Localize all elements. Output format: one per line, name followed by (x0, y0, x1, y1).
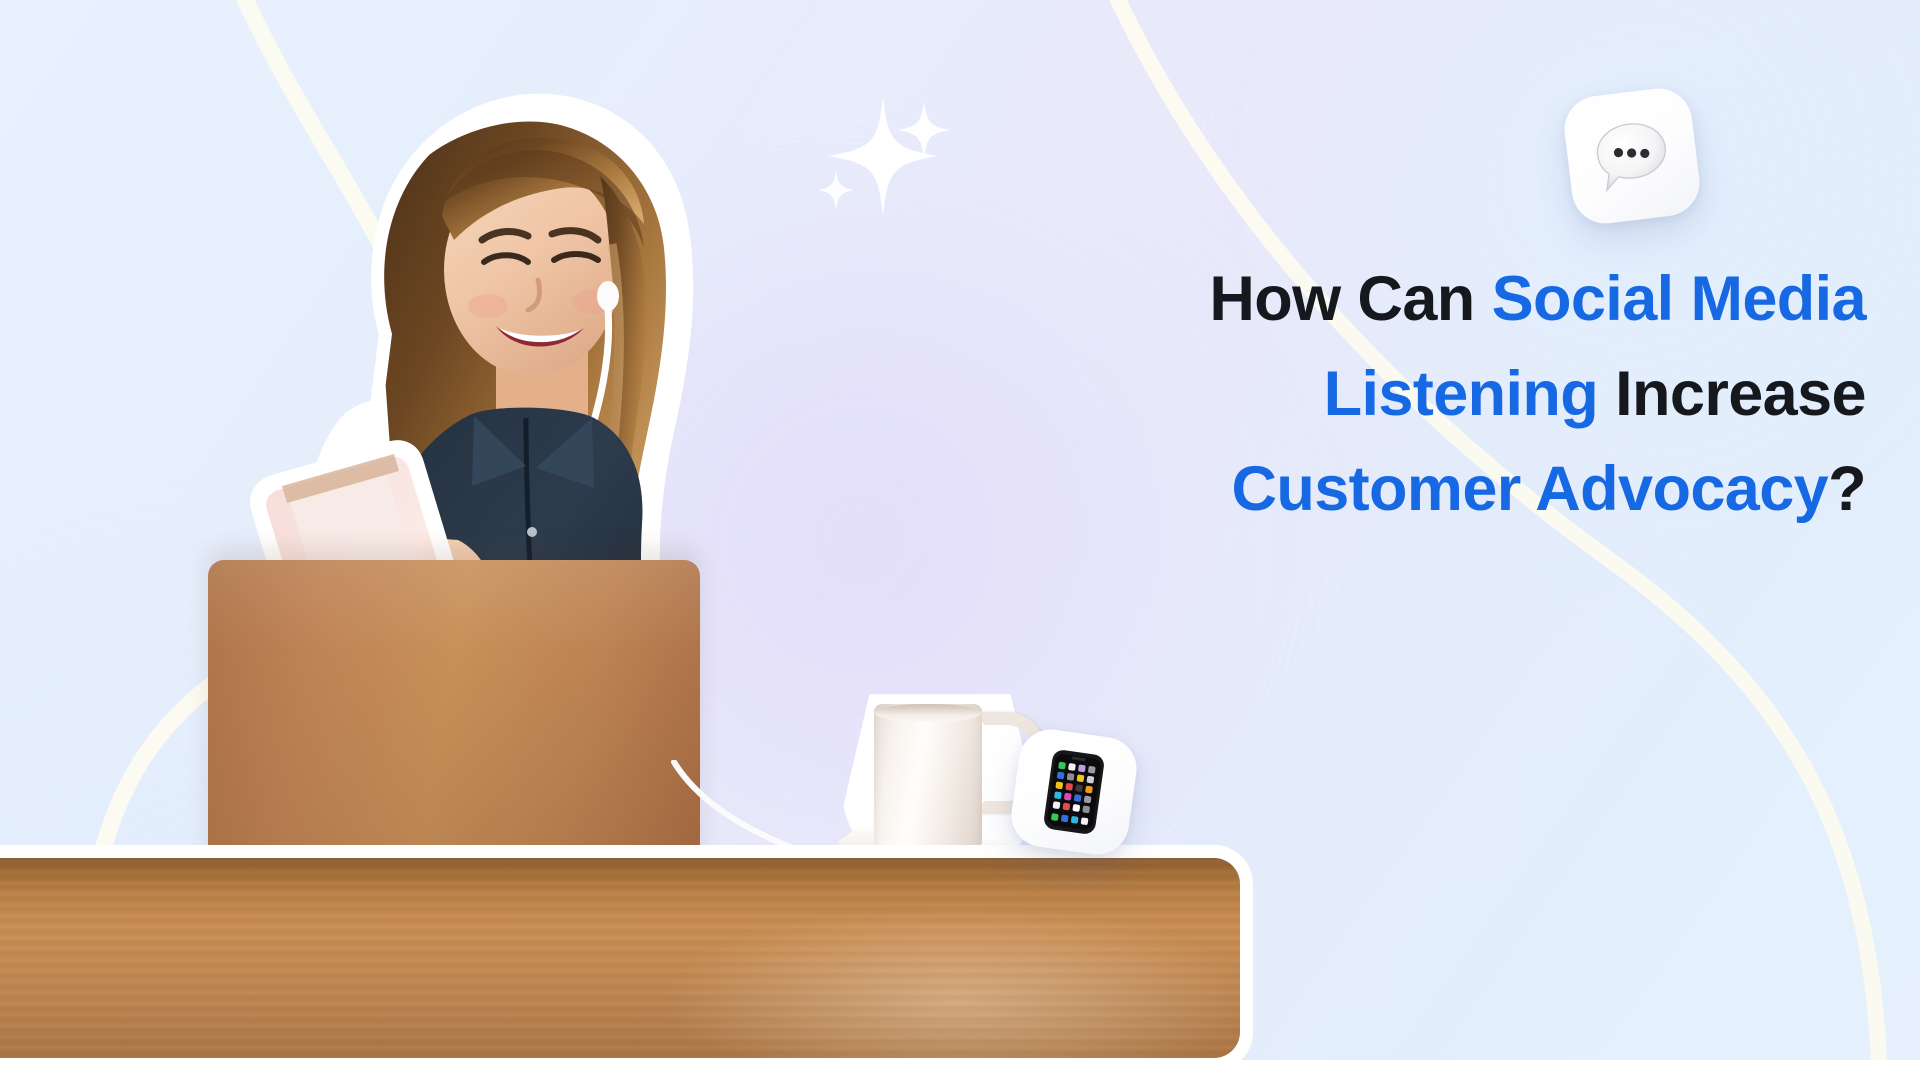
bottom-white-edge (0, 1060, 1920, 1080)
headline-line1-plain: How Can (1209, 264, 1491, 334)
headline-line3-plain: ? (1828, 454, 1866, 524)
hero-photo-composition (0, 0, 1260, 1080)
chat-bubble-app-icon[interactable] (1561, 85, 1704, 228)
hero-headline: How Can Social Media Listening Increase … (926, 252, 1866, 537)
headline-line-3: Customer Advocacy? (926, 442, 1866, 537)
photo-laptop-lid (208, 560, 700, 880)
photo-mug-rim (874, 704, 982, 722)
headline-line-2: Listening Increase (926, 347, 1866, 442)
smartphone-icon (1037, 746, 1110, 838)
headline-line-1: How Can Social Media (926, 252, 1866, 347)
chat-bubble-icon (1589, 115, 1675, 198)
blog-hero-banner: How Can Social Media Listening Increase … (0, 0, 1920, 1080)
photo-wooden-desk (0, 858, 1240, 1058)
headline-line2-accent: Listening (1324, 359, 1616, 429)
smartphone-app-icon[interactable] (1007, 725, 1140, 858)
headline-line2-plain: Increase (1615, 359, 1866, 429)
headline-line3-accent: Customer Advocacy (1231, 454, 1828, 524)
photo-mug (874, 704, 982, 854)
headline-line1-accent: Social Media (1492, 264, 1866, 334)
